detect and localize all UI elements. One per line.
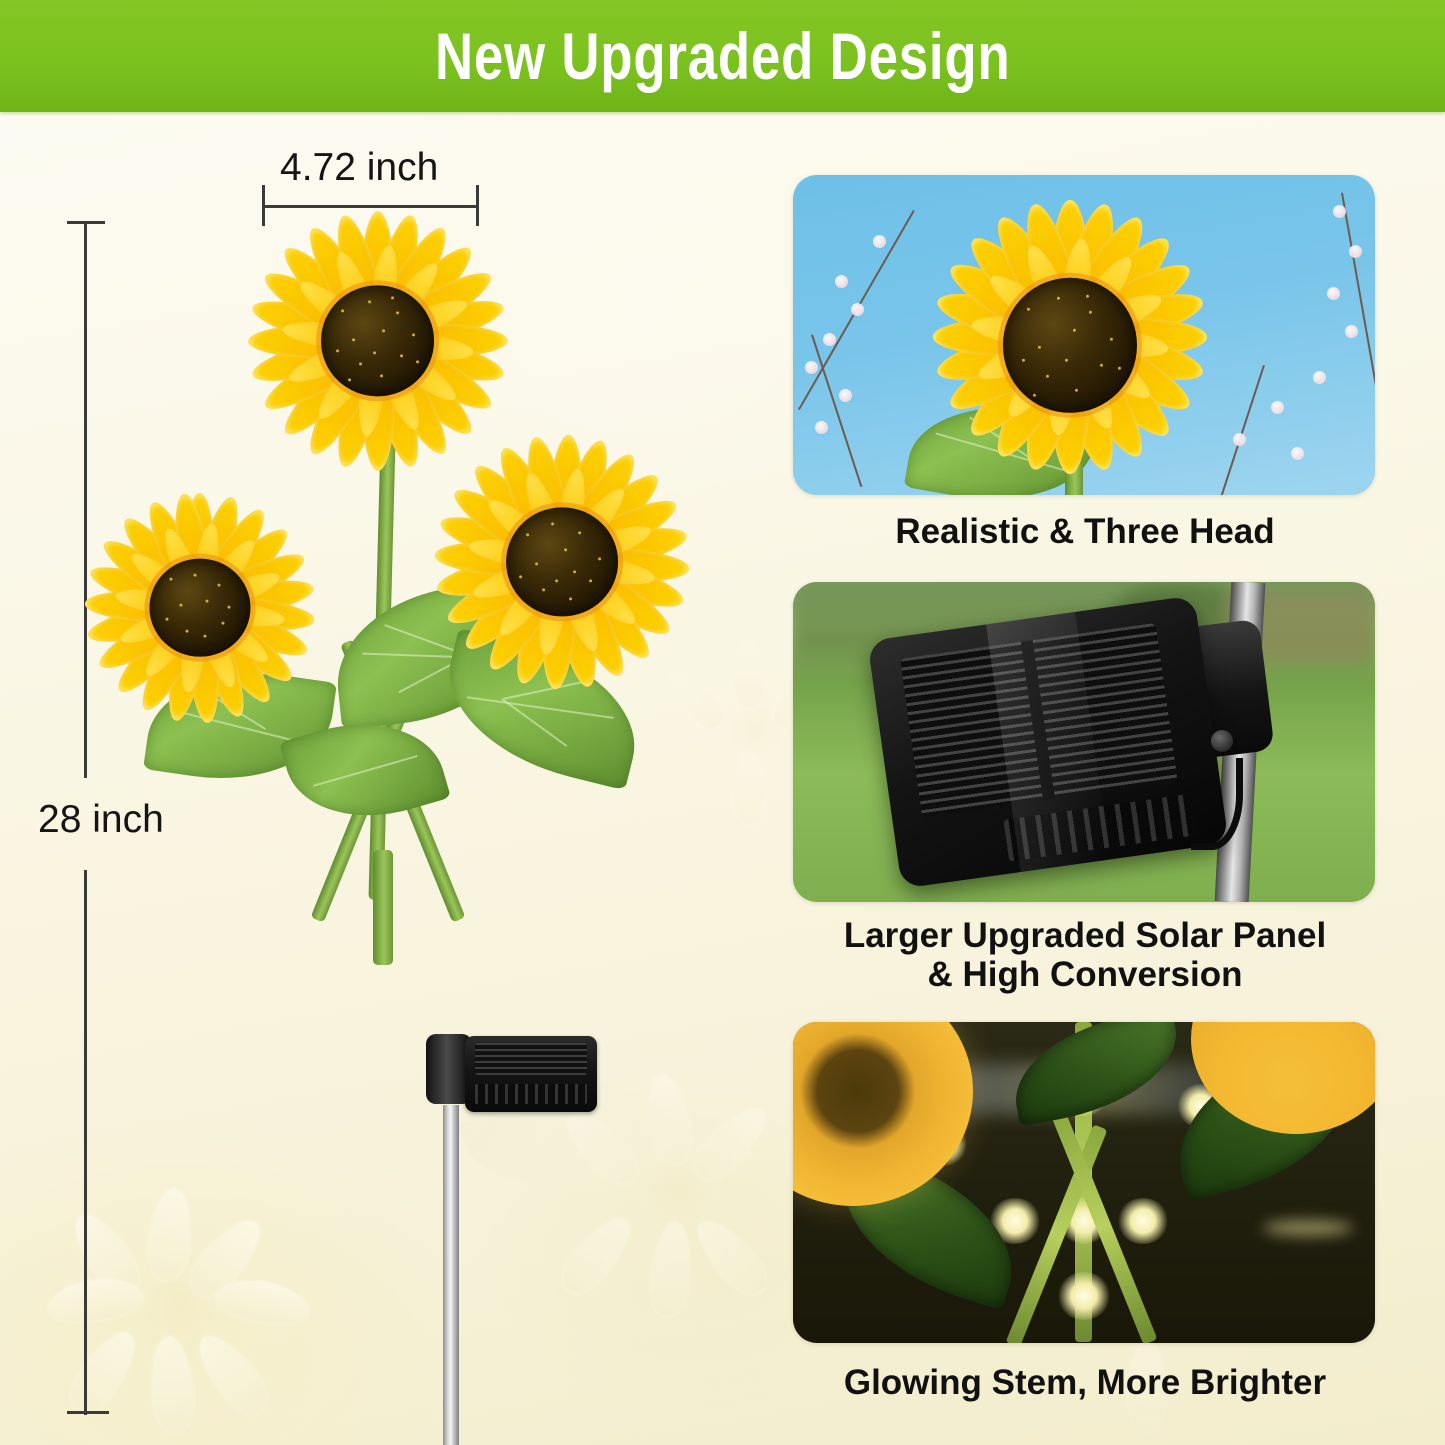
blossom-icon: [835, 275, 848, 288]
blossom-icon: [1349, 245, 1362, 258]
blossom-icon: [1291, 447, 1304, 460]
solar-cell-grid: [475, 1043, 587, 1075]
screw-icon: [1211, 730, 1233, 752]
blossom-icon: [851, 303, 864, 316]
header-banner: New Upgraded Design: [0, 0, 1445, 112]
product-infographic: New Upgraded Design 4.72 inch 28 inch: [0, 0, 1445, 1445]
sunflower-partial-left: [793, 1022, 973, 1206]
solar-panel-ribs: [475, 1084, 587, 1104]
stem-light-node: [1117, 1198, 1169, 1244]
blossom-icon: [1233, 433, 1246, 446]
solar-panel-box: [465, 1036, 597, 1112]
feature-panel-larger-solar-panel[interactable]: [793, 582, 1375, 902]
flower-core: [506, 507, 618, 616]
blossom-icon: [805, 361, 818, 374]
blossom-icon: [823, 333, 836, 346]
background-light-reflection: [1263, 1220, 1353, 1236]
solar-panel-body: [867, 595, 1229, 888]
blossom-icon: [1313, 371, 1326, 384]
caption-realistic-three-head: Realistic & Three Head: [775, 512, 1395, 551]
feature-panel-realistic-three-head[interactable]: [793, 175, 1375, 495]
blossom-branch-left-lower: [811, 334, 862, 487]
sunflower-head-right: [432, 432, 692, 692]
blossom-icon: [839, 389, 852, 402]
blossom-branch-right: [1341, 193, 1375, 440]
blossom-icon: [1271, 401, 1284, 414]
blossom-icon: [815, 421, 828, 434]
stem-light-node: [1057, 1272, 1111, 1320]
blossom-icon: [1327, 287, 1340, 300]
blossom-icon: [873, 235, 886, 248]
flower-core: [1003, 278, 1137, 412]
feature-panel-glowing-stem[interactable]: [793, 1022, 1375, 1343]
blossom-icon: [1345, 325, 1358, 338]
banner-title: New Upgraded Design: [435, 23, 1011, 89]
sunflower-head-left: [82, 490, 317, 725]
ground-stake-pole: [443, 1105, 459, 1445]
flower-core: [321, 285, 435, 396]
flower-core: [149, 558, 250, 657]
caption-glowing-stem: Glowing Stem, More Brighter: [775, 1363, 1395, 1402]
product-illustration: [60, 150, 740, 1440]
blossom-icon: [1333, 205, 1346, 218]
stem-base: [373, 850, 393, 965]
sunflower-head-closeup: [921, 197, 1219, 477]
blossom-branch-right-lower: [1220, 365, 1265, 495]
caption-larger-solar-panel: Larger Upgraded Solar Panel & High Conve…: [775, 916, 1395, 994]
